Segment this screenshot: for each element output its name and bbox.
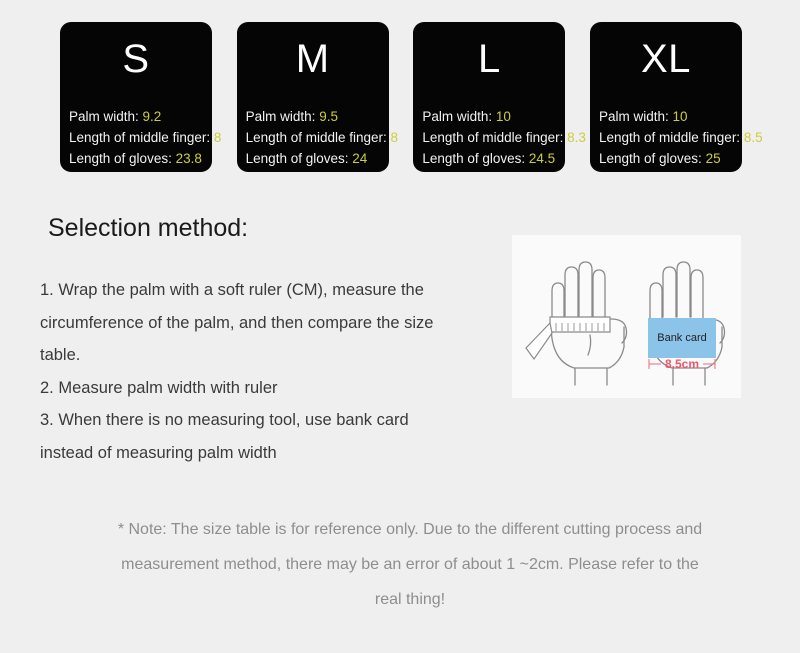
spec-palm-width: Palm width: 10 <box>599 106 742 127</box>
note-line: real thing! <box>86 582 734 617</box>
size-card-letter: L <box>413 36 565 82</box>
spec-palm-width: Palm width: 10 <box>422 106 565 127</box>
spec-value: 8 <box>214 130 222 145</box>
size-card-specs: Palm width: 9.2 Length of middle finger:… <box>69 106 212 169</box>
size-card-row: S Palm width: 9.2 Length of middle finge… <box>60 22 742 172</box>
size-table-note: * Note: The size table is for reference … <box>86 512 734 617</box>
spec-palm-width: Palm width: 9.2 <box>69 106 212 127</box>
spec-label: Length of middle finger: <box>69 130 210 145</box>
spec-label: Palm width: <box>422 109 492 124</box>
spec-glove-length: Length of gloves: 24.5 <box>422 148 565 169</box>
spec-middle-finger-length: Length of middle finger: 8.3 <box>422 127 565 148</box>
step-line: 1. Wrap the palm with a soft ruler (CM),… <box>40 274 480 307</box>
spec-value: 23.8 <box>176 151 202 166</box>
size-card-specs: Palm width: 10 Length of middle finger: … <box>422 106 565 169</box>
hand-measurement-illustration: Bank card 8.5cm <box>512 235 741 398</box>
spec-glove-length: Length of gloves: 25 <box>599 148 742 169</box>
spec-label: Palm width: <box>246 109 316 124</box>
spec-label: Length of middle finger: <box>422 130 563 145</box>
spec-label: Palm width: <box>69 109 139 124</box>
selection-method-heading: Selection method: <box>48 212 248 244</box>
size-card-letter: M <box>237 36 389 82</box>
spec-label: Length of middle finger: <box>599 130 740 145</box>
spec-label: Length of gloves: <box>246 151 349 166</box>
size-card-letter: S <box>60 36 212 82</box>
selection-method-steps: 1. Wrap the palm with a soft ruler (CM),… <box>40 274 480 469</box>
size-card-specs: Palm width: 9.5 Length of middle finger:… <box>246 106 389 169</box>
spec-label: Length of gloves: <box>422 151 525 166</box>
spec-middle-finger-length: Length of middle finger: 8 <box>69 127 212 148</box>
spec-palm-width: Palm width: 9.5 <box>246 106 389 127</box>
step-line: table. <box>40 339 480 372</box>
size-card-xl[interactable]: XL Palm width: 10 Length of middle finge… <box>590 22 742 172</box>
spec-glove-length: Length of gloves: 23.8 <box>69 148 212 169</box>
spec-label: Length of middle finger: <box>246 130 387 145</box>
step-line: instead of measuring palm width <box>40 437 480 470</box>
note-line: * Note: The size table is for reference … <box>86 512 734 547</box>
spec-value: 24 <box>352 151 367 166</box>
bank-card-label: Bank card <box>657 332 707 344</box>
spec-value: 10 <box>496 109 511 124</box>
spec-label: Length of gloves: <box>599 151 702 166</box>
size-card-letter: XL <box>590 36 742 82</box>
spec-label: Length of gloves: <box>69 151 172 166</box>
note-line: measurement method, there may be an erro… <box>86 547 734 582</box>
size-card-s[interactable]: S Palm width: 9.2 Length of middle finge… <box>60 22 212 172</box>
step-line: 2. Measure palm width with ruler <box>40 372 480 405</box>
step-line: 3. When there is no measuring tool, use … <box>40 404 480 437</box>
spec-value: 8 <box>391 130 399 145</box>
spec-value: 10 <box>673 109 688 124</box>
step-line: circumference of the palm, and then comp… <box>40 307 480 340</box>
spec-middle-finger-length: Length of middle finger: 8 <box>246 127 389 148</box>
size-card-l[interactable]: L Palm width: 10 Length of middle finger… <box>413 22 565 172</box>
size-card-specs: Palm width: 10 Length of middle finger: … <box>599 106 742 169</box>
spec-value: 8.3 <box>567 130 586 145</box>
spec-value: 9.5 <box>319 109 338 124</box>
size-card-m[interactable]: M Palm width: 9.5 Length of middle finge… <box>237 22 389 172</box>
spec-middle-finger-length: Length of middle finger: 8.5 <box>599 127 742 148</box>
spec-value: 9.2 <box>143 109 162 124</box>
spec-value: 25 <box>706 151 721 166</box>
spec-glove-length: Length of gloves: 24 <box>246 148 389 169</box>
spec-value: 24.5 <box>529 151 555 166</box>
measurement-label: 8.5cm <box>665 357 699 371</box>
spec-value: 8.5 <box>744 130 763 145</box>
spec-label: Palm width: <box>599 109 669 124</box>
